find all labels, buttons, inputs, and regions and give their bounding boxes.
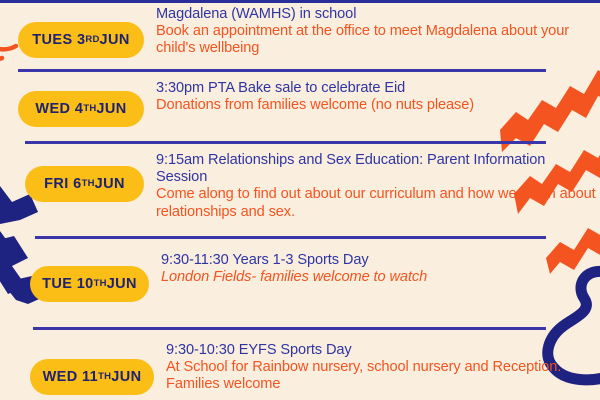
event-date-prefix-4: TUE 10	[42, 277, 94, 292]
event-date-pill-5[interactable]: WED 11TH JUN	[30, 359, 154, 395]
event-row-1[interactable]: TUES 3RD JUN Magdalena (WAMHS) in school…	[0, 6, 600, 58]
event-divider-1	[18, 69, 546, 72]
event-date-pill-1[interactable]: TUES 3RD JUN	[18, 22, 144, 58]
event-date-suffix-5: JUN	[111, 370, 141, 385]
event-row-5[interactable]: WED 11TH JUN 9:30-10:30 EYFS Sports Day …	[0, 342, 600, 395]
event-row-3[interactable]: FRI 6TH JUN 9:15am Relationships and Sex…	[0, 152, 600, 221]
event-detail-2: 3:30pm PTA Bake sale to celebrate Eid Do…	[156, 80, 600, 114]
event-detail-3: 9:15am Relationships and Sex Education: …	[156, 152, 600, 221]
event-row-2[interactable]: WED 4TH JUN 3:30pm PTA Bake sale to cele…	[0, 80, 600, 127]
events-poster: TUES 3RD JUN Magdalena (WAMHS) in school…	[0, 0, 600, 400]
event-detail-5: 9:30-10:30 EYFS Sports Day At School for…	[166, 342, 600, 394]
event-date-pill-3[interactable]: FRI 6TH JUN	[25, 166, 144, 202]
event-date-prefix-5: WED 11	[43, 370, 99, 385]
event-row-4[interactable]: TUE 10TH JUN 9:30-11:30 Years 1-3 Sports…	[0, 252, 600, 302]
event-date-suffix-4: JUN	[107, 277, 137, 292]
event-date-prefix-2: WED 4	[35, 102, 83, 117]
event-detail-1: Magdalena (WAMHS) in school Book an appo…	[156, 6, 600, 58]
event-divider-3	[35, 236, 546, 239]
event-sub-5: At School for Rainbow nursery, school nu…	[166, 359, 600, 393]
event-date-suffix-3: JUN	[95, 177, 125, 192]
event-headline-2: 3:30pm PTA Bake sale to celebrate Eid	[156, 80, 600, 97]
event-date-suffix-1: JUN	[100, 33, 130, 48]
event-sub-3: Come along to find out about our curricu…	[156, 186, 600, 220]
event-divider-4	[33, 327, 546, 330]
top-border-rule	[0, 0, 600, 3]
event-headline-1: Magdalena (WAMHS) in school	[156, 6, 600, 23]
event-headline-5: 9:30-10:30 EYFS Sports Day	[166, 342, 600, 359]
event-date-prefix-1: TUES 3	[32, 33, 85, 48]
event-date-prefix-3: FRI 6	[44, 177, 81, 192]
event-detail-4: 9:30-11:30 Years 1-3 Sports Day London F…	[161, 252, 600, 286]
event-sub-2: Donations from families welcome (no nuts…	[156, 97, 600, 114]
event-date-suffix-2: JUN	[96, 102, 126, 117]
event-sub-1: Book an appointment at the office to mee…	[156, 23, 600, 57]
event-date-pill-2[interactable]: WED 4TH JUN	[18, 91, 144, 127]
event-headline-4: 9:30-11:30 Years 1-3 Sports Day	[161, 252, 600, 269]
event-divider-2	[25, 141, 546, 144]
event-date-pill-4[interactable]: TUE 10TH JUN	[30, 266, 149, 302]
event-headline-3: 9:15am Relationships and Sex Education: …	[156, 152, 600, 186]
event-sub-4: London Fields- families welcome to watch	[161, 269, 600, 286]
